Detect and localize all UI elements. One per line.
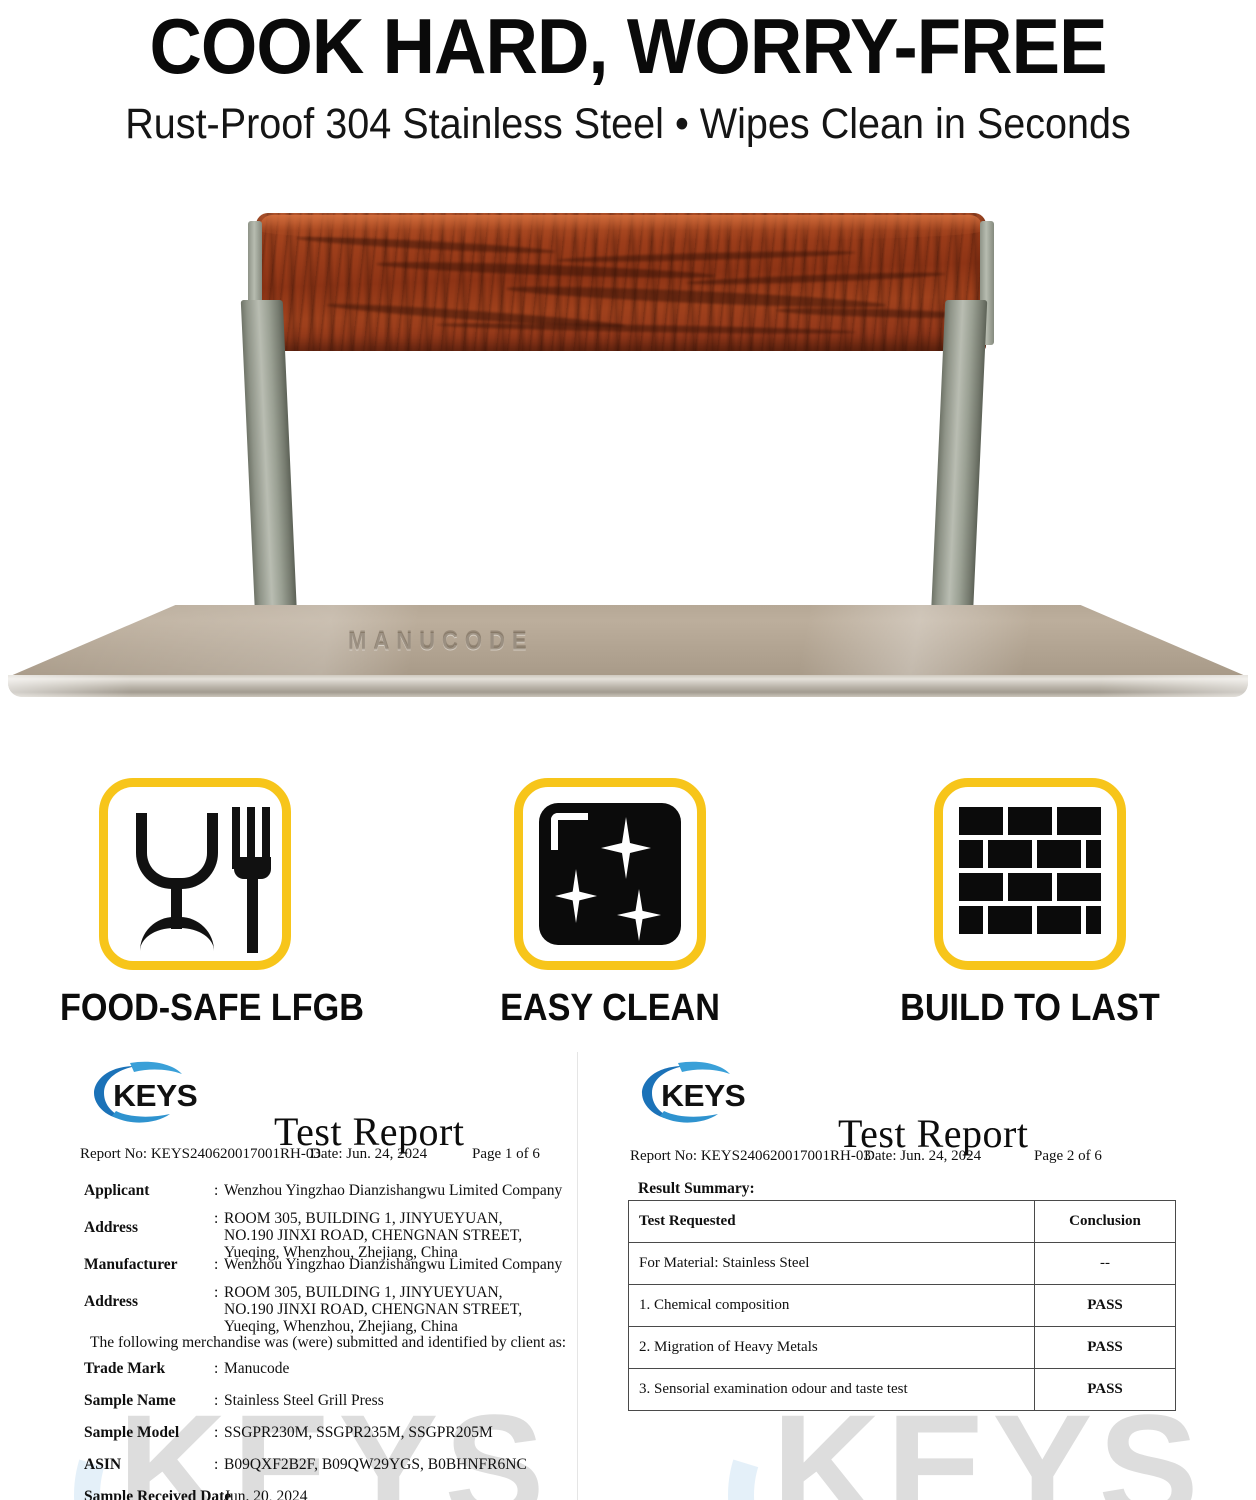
field-value: Wenzhou Yingzhao Dianzishangwu Limited C… bbox=[224, 1182, 562, 1200]
table-row: 1. Chemical composition PASS bbox=[629, 1285, 1176, 1327]
table-row: For Material: Stainless Steel -- bbox=[629, 1243, 1176, 1285]
sparkle-icon bbox=[601, 817, 651, 879]
field-value: Stainless Steel Grill Press bbox=[224, 1392, 384, 1410]
sparkle-icon bbox=[617, 889, 661, 941]
fork-icon bbox=[228, 807, 274, 953]
cell-conclusion: PASS bbox=[1035, 1285, 1176, 1327]
keys-logo: KEYS bbox=[638, 1060, 766, 1126]
field-value: B09QXF2B2F, B09QW29YGS, B0BHNFR6NC bbox=[224, 1456, 527, 1474]
field-colon: : bbox=[214, 1256, 218, 1274]
field-value: ROOM 305, BUILDING 1, JINYUEYUAN, NO.190… bbox=[224, 1210, 554, 1261]
feature-easy-clean: EASY CLEAN bbox=[460, 778, 760, 1030]
col-conclusion: Conclusion bbox=[1035, 1201, 1176, 1243]
field-colon: : bbox=[214, 1424, 218, 1442]
field-colon: : bbox=[214, 1284, 218, 1302]
field-label: Address bbox=[84, 1219, 138, 1237]
cell-test: For Material: Stainless Steel bbox=[629, 1243, 1035, 1285]
report-page: Page 2 of 6 bbox=[1034, 1148, 1102, 1165]
shine-corner-icon bbox=[551, 813, 588, 850]
field-label: Address bbox=[84, 1293, 138, 1311]
field-colon: : bbox=[214, 1392, 218, 1410]
cell-test: 1. Chemical composition bbox=[629, 1285, 1035, 1327]
field-value: Jun. 20, 2024 bbox=[224, 1488, 308, 1500]
plate-edge bbox=[8, 675, 1248, 697]
field-label: Sample Received Date bbox=[84, 1488, 231, 1500]
field-colon: : bbox=[214, 1456, 218, 1474]
submission-note: The following merchandise was (were) sub… bbox=[90, 1334, 566, 1352]
field-value: Manucode bbox=[224, 1360, 289, 1378]
cell-conclusion: -- bbox=[1035, 1243, 1176, 1285]
feature-food-safe: FOOD-SAFE LFGB bbox=[45, 778, 345, 1030]
col-test-requested: Test Requested bbox=[629, 1201, 1035, 1243]
feature-label: FOOD-SAFE LFGB bbox=[60, 987, 330, 1030]
field-value: ROOM 305, BUILDING 1, JINYUEYUAN, NO.190… bbox=[224, 1284, 554, 1335]
field-label: ASIN bbox=[84, 1456, 121, 1474]
field-label: Sample Name bbox=[84, 1392, 176, 1410]
cell-test: 2. Migration of Heavy Metals bbox=[629, 1327, 1035, 1369]
sparkle-icon bbox=[555, 869, 597, 923]
headline-block: COOK HARD, WORRY-FREE Rust-Proof 304 Sta… bbox=[0, 0, 1256, 148]
field-colon: : bbox=[214, 1360, 218, 1378]
report-date: Date: Jun. 24, 2024 bbox=[864, 1148, 981, 1165]
report-number: Report No: KEYS240620017001RH-03 bbox=[80, 1146, 321, 1163]
field-colon: : bbox=[214, 1488, 218, 1500]
wine-glass-icon bbox=[136, 813, 218, 951]
feature-label: BUILD TO LAST bbox=[895, 987, 1165, 1030]
table-row: 2. Migration of Heavy Metals PASS bbox=[629, 1327, 1176, 1369]
brick-wall-shape bbox=[959, 807, 1101, 941]
feature-badges: FOOD-SAFE LFGB EASY CLEAN bbox=[0, 778, 1256, 1048]
cell-conclusion: PASS bbox=[1035, 1327, 1176, 1369]
cell-conclusion: PASS bbox=[1035, 1369, 1176, 1411]
wood-handle bbox=[256, 213, 986, 351]
brick-wall-icon bbox=[934, 778, 1126, 970]
report-number: Report No: KEYS240620017001RH-03 bbox=[630, 1148, 871, 1165]
report-page: Page 1 of 6 bbox=[472, 1146, 540, 1163]
feature-build-to-last: BUILD TO LAST bbox=[880, 778, 1180, 1030]
handle-highlight bbox=[260, 215, 982, 241]
cell-test: 3. Sensorial examination odour and taste… bbox=[629, 1369, 1035, 1411]
feature-label: EASY CLEAN bbox=[475, 987, 745, 1030]
clean-surface-shape bbox=[539, 803, 681, 945]
test-report-page-1: KEYS KEYS Test Report Report No: KEYS240… bbox=[62, 1052, 578, 1500]
field-value: Wenzhou Yingzhao Dianzishangwu Limited C… bbox=[224, 1256, 562, 1274]
field-label: Applicant bbox=[84, 1182, 149, 1200]
field-label: Manufacturer bbox=[84, 1256, 178, 1274]
sparkle-clean-icon bbox=[514, 778, 706, 970]
field-colon: : bbox=[214, 1182, 218, 1200]
keys-logo-text: KEYS bbox=[661, 1078, 745, 1114]
table-row: 3. Sensorial examination odour and taste… bbox=[629, 1369, 1176, 1411]
page-subtitle: Rust-Proof 304 Stainless Steel • Wipes C… bbox=[50, 100, 1206, 148]
result-summary-label: Result Summary: bbox=[638, 1180, 755, 1198]
page-title: COOK HARD, WORRY-FREE bbox=[44, 6, 1212, 86]
report-date: Date: Jun. 24, 2024 bbox=[310, 1146, 427, 1163]
food-safe-glass-fork-icon bbox=[99, 778, 291, 970]
test-report-page-2: KEYS KEYS Test Report Report No: KEYS240… bbox=[616, 1052, 1196, 1500]
keys-logo: KEYS bbox=[90, 1060, 218, 1126]
result-summary-table: Test Requested Conclusion For Material: … bbox=[628, 1200, 1176, 1411]
field-label: Trade Mark bbox=[84, 1360, 165, 1378]
keys-logo-text: KEYS bbox=[113, 1078, 197, 1114]
field-colon: : bbox=[214, 1210, 218, 1228]
table-header-row: Test Requested Conclusion bbox=[629, 1201, 1176, 1243]
field-label: Sample Model bbox=[84, 1424, 179, 1442]
certification-documents: KEYS KEYS Test Report Report No: KEYS240… bbox=[0, 1052, 1256, 1500]
press-plate: MANUCODE bbox=[8, 605, 1248, 695]
product-image: MANUCODE bbox=[0, 195, 1256, 715]
field-value: SSGPR230M, SSGPR235M, SSGPR205M bbox=[224, 1424, 493, 1442]
plate-emboss-logo: MANUCODE bbox=[348, 626, 728, 651]
